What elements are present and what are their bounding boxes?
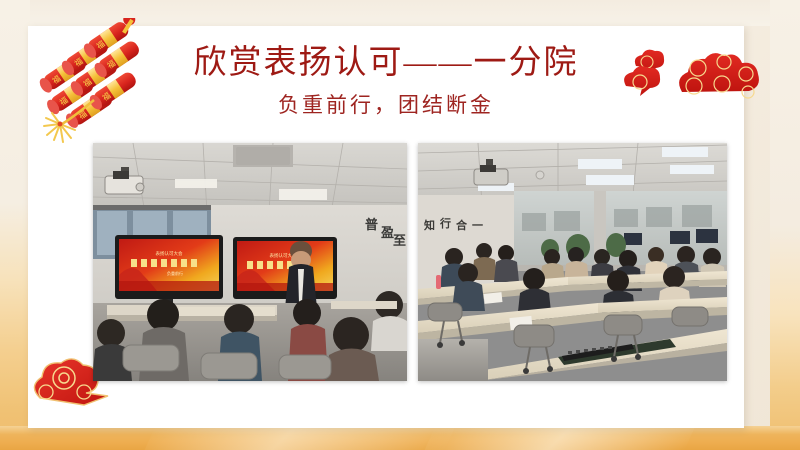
svg-text:负重前行: 负重前行 <box>167 270 183 276</box>
auspicious-cloud-icon <box>620 42 770 122</box>
presentation-slide: 福 福 福 福 <box>0 0 800 450</box>
frame-bottom-gold-band <box>0 426 800 450</box>
svg-text:知: 知 <box>423 218 435 232</box>
bottom-wave-highlight-left <box>145 426 456 450</box>
bottom-wave-highlight-right <box>425 426 696 450</box>
svg-text:表扬认可大会: 表扬认可大会 <box>156 250 183 257</box>
svg-text:至: 至 <box>393 233 406 248</box>
frame-right-band <box>770 0 800 450</box>
svg-text:行: 行 <box>439 216 451 230</box>
svg-text:一: 一 <box>472 220 483 232</box>
photo-right[interactable]: 知行合一 <box>418 143 727 381</box>
svg-text:合: 合 <box>456 218 468 232</box>
firecrackers-icon: 福 福 福 福 <box>36 18 186 143</box>
svg-text:普: 普 <box>365 217 378 232</box>
photo-left[interactable]: 普盈至 表扬认可大会 负重前行 <box>93 143 407 381</box>
svg-text:盈: 盈 <box>380 225 394 240</box>
